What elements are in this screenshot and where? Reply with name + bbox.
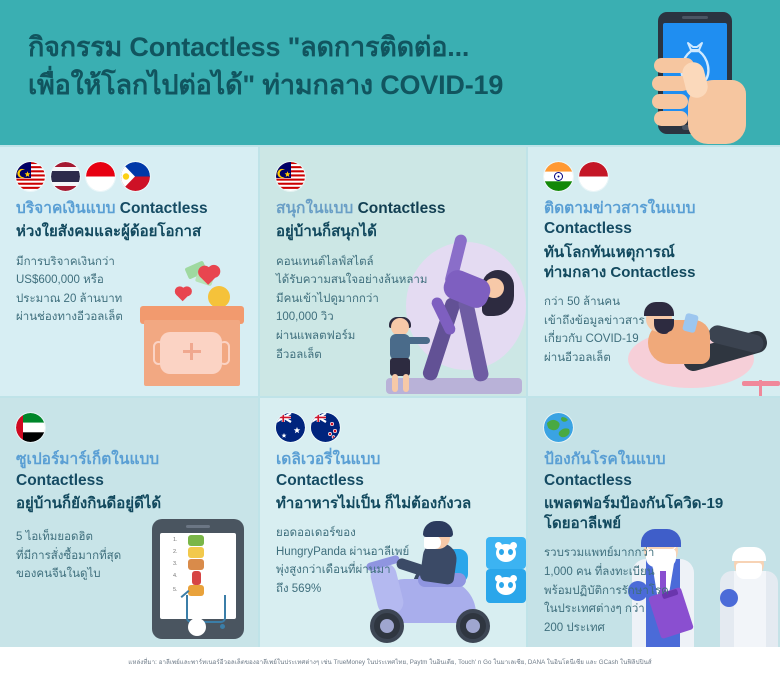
flag-row [276, 412, 510, 442]
panda-delivery-box [486, 569, 526, 603]
nurse-face-mask [736, 563, 762, 579]
body-line: กว่า 50 ล้านคน [544, 293, 678, 312]
body-line: อีวอลเล็ต [276, 346, 416, 365]
grocery-item [188, 547, 204, 558]
body-line: ที่มีการสั่งซื้อมากที่สุด [16, 547, 152, 566]
body-line: ในประเทศต่างๆ กว่า [544, 600, 683, 619]
wheel-hub [466, 619, 480, 633]
finger [654, 111, 688, 126]
grocery-item [188, 559, 204, 570]
card-title: บริจาคเงินแบบ Contactless [16, 199, 242, 219]
infographic-root: กิจกรรม Contactless "ลดการติดต่อ... เพื่… [0, 0, 780, 647]
body-line: มีคนเข้าไปดูมากกว่า [276, 290, 416, 309]
panda-eye [508, 582, 513, 588]
card-entertainment: สนุกในแบบ Contactless อยู่บ้านก็สนุกได้ … [260, 147, 526, 396]
grocery-item [192, 571, 201, 585]
card-body: 5 ไอเท็มยอดฮิต ที่มีการสั่งซื้อมากที่สุด… [16, 528, 152, 584]
flag-row [276, 161, 510, 191]
card-title-en: Contactless [544, 220, 632, 237]
flag-row [544, 161, 768, 191]
card-body: มีการบริจาคเงินกว่า US$600,000 หรือ ประม… [16, 253, 152, 328]
header-banner: กิจกรรม Contactless "ลดการติดต่อ... เพื่… [0, 0, 780, 145]
scooter-wheel [370, 609, 404, 643]
flag-thailand-icon [51, 162, 80, 191]
finger [652, 94, 688, 109]
side-table-leg [759, 380, 762, 396]
body-line: รวบรวมแพทย์มากกว่า [544, 544, 683, 563]
body-line: 100,000 วิว [276, 308, 416, 327]
card-title-th: สนุกในแบบ [276, 200, 358, 217]
flag-philippines-icon [121, 162, 150, 191]
phone-home-button [188, 618, 206, 636]
flag-australia-icon [276, 413, 305, 442]
card-title-th: ป้องกันโรคในแบบ [544, 451, 666, 468]
footer-source-note: แหล่งที่มา: อาลีเพย์และพาร์ทเนอร์อีวอลเล… [128, 657, 651, 667]
phone-speaker [186, 525, 210, 528]
phone-body: 1. 2. 3. 4. 5. [152, 519, 244, 639]
flag-row [16, 161, 242, 191]
list-number: 5. [173, 587, 178, 593]
panda-ear [510, 542, 517, 549]
footer: แหล่งที่มา: อาลีเพย์และพาร์ทเนอร์อีวอลเล… [0, 647, 780, 677]
body-line: HungryPanda ผ่านอาลีเพย์ [276, 543, 435, 562]
body-line: 200 ประเทศ [544, 619, 683, 638]
card-body: คอนเทนต์ไลฟ์สไตล์ ได้รับความสนใจอย่างล้น… [276, 253, 416, 365]
card-title: เดลิเวอรี่ในแบบ Contactless [276, 450, 510, 491]
child-leg [403, 374, 409, 392]
card-title-en: Contactless [276, 472, 364, 489]
panda-delivery-box [486, 537, 526, 569]
page-title-line-2: เพื่อให้โลกไปต่อได้" ท่ามกลาง COVID-19 [28, 66, 648, 104]
card-title-th: ติดตามข่าวสารในแบบ [544, 200, 695, 217]
body-line: ผ่านอีวอลเล็ต [544, 349, 678, 368]
nurse-coat [734, 571, 766, 647]
panda-ear [495, 575, 502, 582]
card-title-th: บริจาคเงินแบบ [16, 200, 120, 217]
body-line: 5 ไอเท็มยอดฮิต [16, 528, 152, 547]
list-number: 1. [173, 537, 178, 543]
cards-grid: บริจาคเงินแบบ Contactless ห่วงใยสังคมและ… [0, 145, 780, 647]
page-title: กิจกรรม Contactless "ลดการติดต่อ... เพื่… [28, 28, 648, 105]
body-line: ยอดออเดอร์ของ [276, 524, 435, 543]
body-line: ผ่านแพลตฟอร์ม [276, 327, 416, 346]
page-title-line-1: กิจกรรม Contactless "ลดการติดต่อ... [28, 28, 648, 66]
card-title-en: Contactless [544, 472, 632, 489]
card-title: ติดตามข่าวสารในแบบ Contactless [544, 199, 768, 240]
card-title-th: ซูเปอร์มาร์เก็ตในแบบ [16, 451, 159, 468]
hand-holding-phone-illustration: $ [642, 4, 754, 144]
card-subtitle: อยู่บ้านก็ยังกินดีอยู่ดีได้ [16, 494, 242, 514]
scooter-wheel [456, 609, 490, 643]
body-line: เข้าถึงข้อมูลข่าวสาร [544, 312, 678, 331]
nurse-cap [732, 547, 766, 561]
body-line: ผ่านช่องทางอีวอลเล็ต [16, 308, 152, 327]
card-title-en: Contactless [120, 200, 208, 217]
panda-eye [499, 549, 504, 555]
panda-ear [495, 542, 502, 549]
body-line: ได้รับความสนใจอย่างล้นหลาม [276, 271, 416, 290]
panda-eye [508, 549, 513, 555]
flag-india-icon [544, 162, 573, 191]
list-number: 3. [173, 561, 178, 567]
subtitle-line: ทันโลกทันเหตุการณ์ [544, 243, 768, 263]
flag-row [544, 412, 768, 442]
panda-eye [499, 582, 504, 588]
flag-row [16, 412, 242, 442]
panda-face-icon [496, 577, 516, 595]
flag-uae-icon [16, 413, 45, 442]
card-news: ติดตามข่าวสารในแบบ Contactless ทันโลกทัน… [528, 147, 780, 396]
body-line: 1,000 คน ที่ลงทะเบียน [544, 563, 683, 582]
body-line: ถึง 569% [276, 580, 435, 599]
grocery-phone-illustration: 1. 2. 3. 4. 5. [152, 519, 250, 643]
donation-box-illustration [134, 262, 252, 390]
card-donation: บริจาคเงินแบบ Contactless ห่วงใยสังคมและ… [0, 147, 258, 396]
card-title: สนุกในแบบ Contactless [276, 199, 510, 219]
grocery-item [188, 535, 204, 546]
body-line: ประมาณ 20 ล้านบาท [16, 290, 152, 309]
card-body: รวบรวมแพทย์มากกว่า 1,000 คน ที่ลงทะเบียน… [544, 544, 683, 637]
flag-new-zealand-icon [311, 413, 340, 442]
body-line: มีการบริจาคเงินกว่า [16, 253, 152, 272]
globe-icon [544, 413, 573, 442]
card-title-th: เดลิเวอรี่ในแบบ [276, 451, 380, 468]
card-title-en: Contactless [358, 200, 446, 217]
card-delivery: เดลิเวอรี่ในแบบ Contactless ทำอาหารไม่เป… [260, 398, 526, 647]
phone-speaker [682, 16, 708, 19]
cross-bar [190, 343, 193, 360]
flag-indonesia-icon [86, 162, 115, 191]
card-title-en: Contactless [16, 472, 104, 489]
body-line: US$600,000 หรือ [16, 271, 152, 290]
coin [208, 286, 230, 308]
wheel-hub [380, 619, 394, 633]
phone-screen: 1. 2. 3. 4. 5. [160, 533, 236, 619]
body-line: พุ่งสูงกว่าเดือนที่ผ่านมา [276, 561, 435, 580]
flag-indonesia-icon [579, 162, 608, 191]
panda-face-icon [496, 544, 516, 562]
list-number: 2. [173, 549, 178, 555]
flag-malaysia-icon [16, 162, 45, 191]
body-line: คอนเทนต์ไลฟ์สไตล์ [276, 253, 416, 272]
card-title: ซูเปอร์มาร์เก็ตในแบบ Contactless [16, 450, 242, 491]
cart-wheel [220, 624, 225, 629]
body-line: เกี่ยวกับ COVID-19 [544, 330, 678, 349]
panda-ear [510, 575, 517, 582]
list-number: 4. [173, 573, 178, 579]
card-healthcare: ป้องกันโรคในแบบ Contactless แพลตฟอร์มป้อ… [528, 398, 780, 647]
card-body: กว่า 50 ล้านคน เข้าถึงข้อมูลข่าวสาร เกี่… [544, 293, 678, 368]
body-line: พร้อมปฏิบัติการรักษาโรค [544, 582, 683, 601]
card-body: ยอดออเดอร์ของ HungryPanda ผ่านอาลีเพย์ พ… [276, 524, 435, 599]
card-supermarket: ซูเปอร์มาร์เก็ตในแบบ Contactless อยู่บ้า… [0, 398, 258, 647]
card-title: ป้องกันโรคในแบบ Contactless [544, 450, 768, 491]
child-leg [392, 374, 398, 392]
body-line: ของคนจีนในดูไบ [16, 565, 152, 584]
hand-illustration [644, 56, 748, 144]
heart-icon [176, 288, 189, 301]
card-subtitle: ห่วงใยสังคมและผู้ด้อยโอกาส [16, 222, 242, 242]
flag-malaysia-icon [276, 162, 305, 191]
